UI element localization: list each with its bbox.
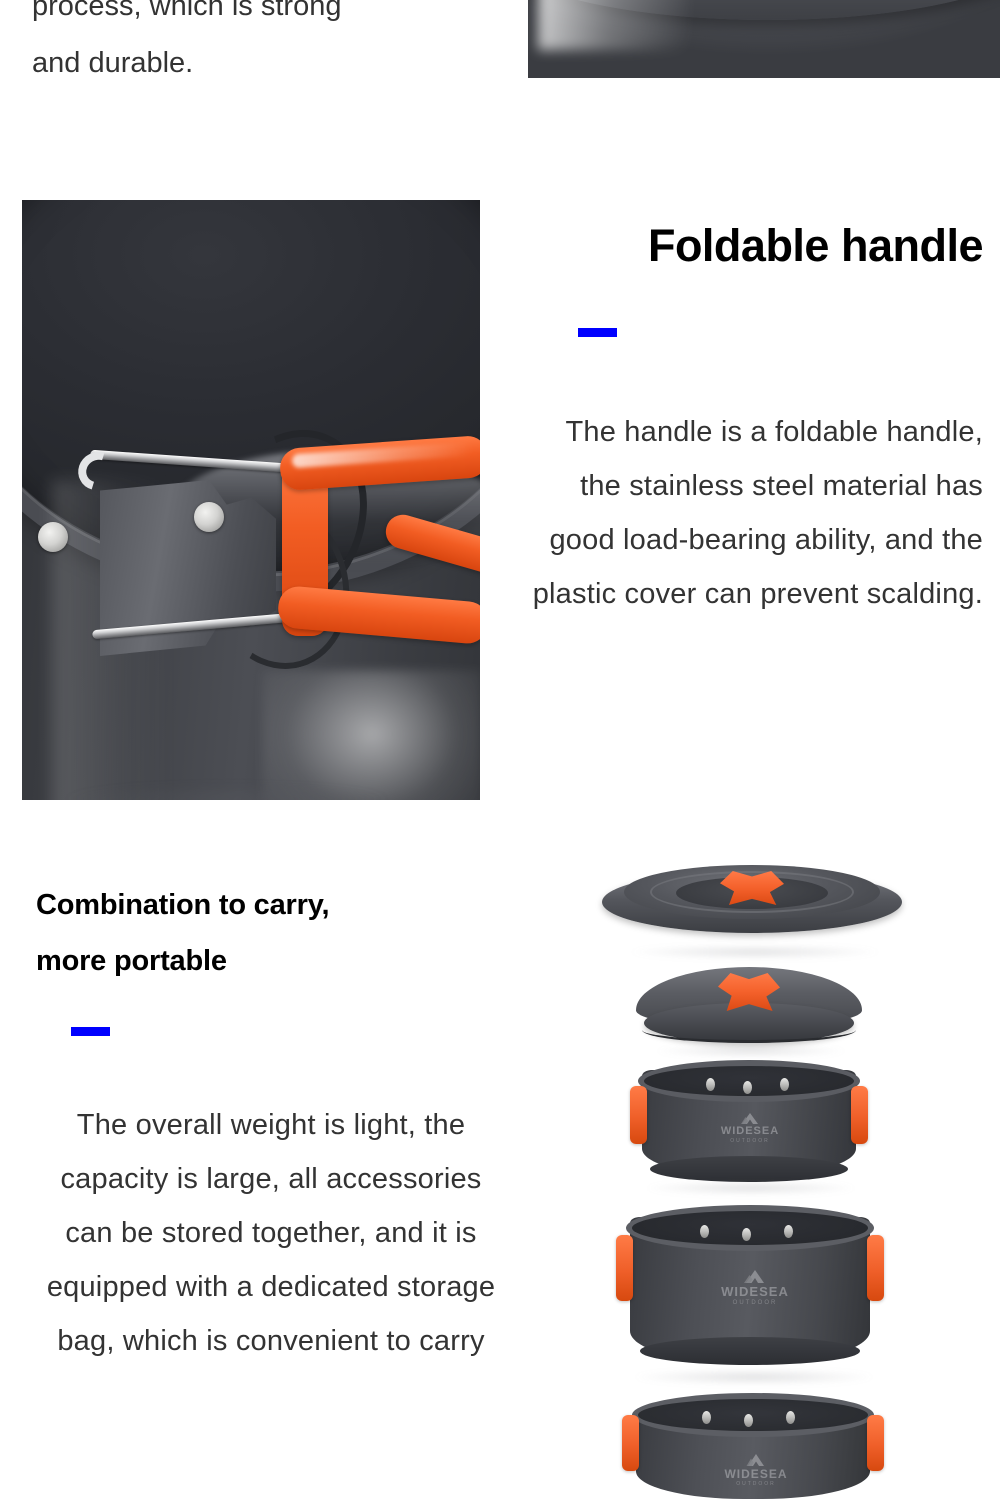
section-one-paragraph: The handle is a foldable handle, the sta… (528, 405, 983, 621)
large-lid-reflection (630, 945, 880, 959)
cookware-stack-photo: WIDESEA OUTDOOR (590, 845, 1000, 1500)
shallow-pan-rim (632, 1393, 874, 1437)
bracket-rivet (38, 522, 68, 552)
top-pot-photo (528, 0, 1000, 78)
orange-plastic-grip (272, 432, 480, 652)
stack-item-shallow-pan: WIDESEA OUTDOOR (620, 1393, 886, 1500)
pot-base-glow (262, 670, 480, 800)
top-pot-highlight (538, 0, 688, 50)
top-truncated-band: process, which is strong and durable. (0, 0, 1000, 115)
small-pot-stud (780, 1078, 789, 1091)
product-detail-page: process, which is strong and durable. (0, 0, 1000, 1500)
large-pot-reflection (634, 1369, 874, 1385)
section-two-accent-bar (71, 1027, 110, 1036)
section-two-title-line-2: more portable (36, 933, 476, 989)
grip-lower-bar (277, 585, 480, 645)
top-text-line-1: process, which is strong (32, 0, 482, 35)
small-pot-stud (743, 1081, 752, 1094)
top-text-line-2: and durable. (32, 35, 482, 92)
section-two-title: Combination to carry, more portable (36, 877, 476, 989)
foldable-handle-text-block: Foldable handle The handle is a foldable… (505, 220, 983, 621)
large-pot-base (640, 1337, 860, 1365)
large-pot-stud (742, 1228, 751, 1241)
shallow-pan-stud (744, 1414, 753, 1427)
section-combination-to-carry: Combination to carry, more portable The … (0, 855, 1000, 1500)
small-pot-handle-right (851, 1086, 868, 1144)
section-two-paragraph: The overall weight is light, the capacit… (36, 1098, 506, 1368)
section-foldable-handle: Foldable handle The handle is a foldable… (0, 180, 1000, 820)
small-lid-reflection (656, 1045, 846, 1057)
large-pot-stud (784, 1225, 793, 1238)
shallow-pan-handle-right (867, 1415, 884, 1471)
top-truncated-text: process, which is strong and durable. (32, 0, 482, 92)
small-pot-base (650, 1156, 848, 1182)
large-pot-handle-right (867, 1235, 884, 1301)
section-one-title: Foldable handle (505, 220, 983, 272)
small-pot-stud (706, 1078, 715, 1091)
small-lid-edge (642, 1017, 856, 1043)
section-two-accent-wrap (36, 1027, 506, 1036)
stack-item-small-lid (636, 967, 862, 1049)
section-one-accent-bar (578, 328, 617, 337)
foldable-handle-photo (22, 200, 480, 800)
stack-item-large-lid (602, 855, 902, 941)
small-pot-handle-left (630, 1086, 647, 1144)
stack-item-small-pot: WIDESEA OUTDOOR (628, 1060, 870, 1186)
large-pot-stud (700, 1225, 709, 1238)
large-pot-handle-left (616, 1235, 633, 1301)
section-two-title-line-1: Combination to carry, (36, 877, 476, 933)
section-one-accent-wrap (505, 328, 983, 337)
shallow-pan-stud (786, 1411, 795, 1424)
stack-item-large-pot: WIDESEA OUTDOOR (614, 1205, 886, 1375)
large-pot-rim (626, 1205, 874, 1251)
grip-diagonal-bar (382, 511, 480, 580)
shallow-pan-stud (702, 1411, 711, 1424)
shallow-pan-handle-left (622, 1415, 639, 1471)
small-pot-reflection (646, 1181, 856, 1195)
combination-text-block: Combination to carry, more portable The … (36, 877, 506, 1368)
